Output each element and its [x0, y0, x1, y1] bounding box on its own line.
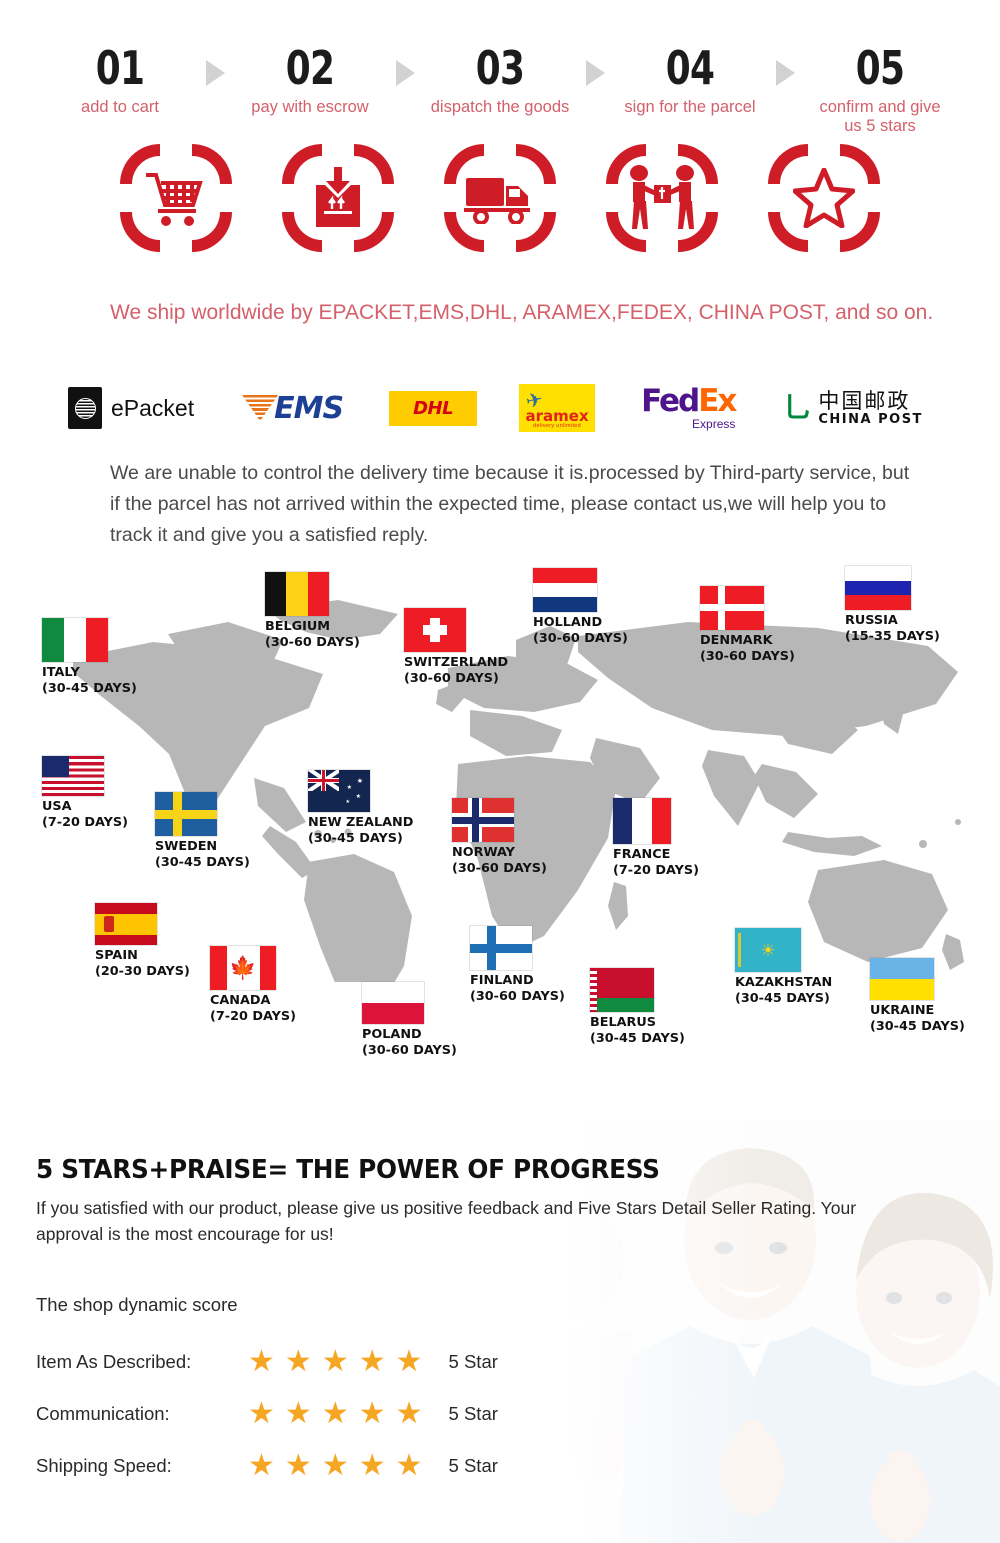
ems-chevron-icon — [242, 395, 278, 421]
map-pin-sweden: SWEDEN (30-45 DAYS) — [155, 792, 250, 871]
fedex-logo: FedEx Express — [641, 386, 735, 431]
flag-usa — [42, 756, 104, 796]
country-days: (7-20 DAYS) — [210, 1009, 296, 1025]
country-name: NORWAY — [452, 845, 547, 861]
country-name: KAZAKHSTAN — [735, 975, 832, 991]
star-icon: ★ — [285, 1451, 312, 1481]
fedex-label: FedEx — [641, 386, 735, 416]
dhl-label: DHL — [413, 398, 453, 419]
step-label: sign for the parcel — [609, 98, 771, 117]
step-icon-cell-4 — [581, 144, 743, 252]
map-pin-finland: FINLAND (30-60 DAYS) — [470, 926, 565, 1005]
country-name: SWITZERLAND — [404, 655, 508, 671]
step-icon-cell-5 — [743, 144, 905, 252]
country-name: NEW ZEALAND — [308, 815, 413, 831]
star-icon: ★ — [322, 1347, 349, 1377]
map-pin-switzerland: SWITZERLAND (30-60 DAYS) — [404, 608, 508, 687]
country-name: POLAND — [362, 1027, 457, 1043]
flag-norway — [452, 798, 514, 842]
country-name: USA — [42, 799, 128, 815]
china-post-emblem-icon: 乚 — [783, 395, 811, 421]
world-shipping-map: ITALY (30-45 DAYS) BELGIUM (30-60 DAYS) … — [0, 558, 1000, 1098]
country-days: (30-60 DAYS) — [470, 989, 565, 1005]
feedback-title: 5 STARS+PRAISE= THE POWER OF PROGRESS — [36, 1155, 660, 1185]
rating-stars: ★ ★ ★ ★ ★ — [248, 1399, 423, 1429]
rating-value: 5 Star — [449, 1403, 498, 1425]
flag-russia — [845, 566, 911, 610]
rating-label: Item As Described: — [36, 1351, 248, 1373]
star-icon: ★ — [396, 1347, 423, 1377]
step-arrow-1 — [201, 42, 229, 86]
country-name: FRANCE — [613, 847, 699, 863]
star-icon — [768, 144, 880, 252]
flag-belarus — [590, 968, 654, 1012]
delivery-truck-icon — [444, 144, 556, 252]
country-days: (20-30 DAYS) — [95, 964, 190, 980]
country-name: BELGIUM — [265, 619, 360, 635]
step-arrow-2 — [391, 42, 419, 86]
epacket-globe-icon — [68, 387, 102, 429]
feedback-section: 5 STARS+PRAISE= THE POWER OF PROGRESS If… — [0, 1120, 1000, 1543]
step-label: confirm and give us 5 stars — [799, 98, 961, 136]
step-icon-cell-3 — [419, 144, 581, 252]
country-name: RUSSIA — [845, 613, 940, 629]
flag-poland — [362, 982, 424, 1024]
flag-ukraine — [870, 958, 934, 1000]
flag-new-zealand: ★ ★ ★ ★ — [308, 770, 370, 812]
step-03: 03 dispatch the goods — [419, 42, 581, 117]
china-post-label-en: CHINA POST — [818, 412, 923, 427]
dhl-logo: DHL — [389, 391, 477, 426]
rating-rows: Item As Described: ★ ★ ★ ★ ★ 5 Star Comm… — [36, 1336, 498, 1492]
worldwide-shipping-text: We ship worldwide by EPACKET,EMS,DHL, AR… — [110, 298, 940, 328]
step-number: 05 — [817, 42, 943, 94]
flag-spain — [95, 903, 157, 945]
country-days: (30-60 DAYS) — [404, 671, 508, 687]
ems-label: EMS — [274, 391, 343, 426]
step-01: 01 add to cart — [39, 42, 201, 117]
star-icon: ★ — [285, 1347, 312, 1377]
rating-label: Shipping Speed: — [36, 1455, 248, 1477]
fedex-sublabel: Express — [692, 417, 735, 431]
step-label: pay with escrow — [229, 98, 391, 117]
rating-value: 5 Star — [449, 1351, 498, 1373]
china-post-label-cn: 中国邮政 — [818, 390, 923, 412]
country-days: (30-45 DAYS) — [155, 855, 250, 871]
map-pin-belgium: BELGIUM (30-60 DAYS) — [265, 572, 360, 651]
step-arrow-4 — [771, 42, 799, 86]
country-days: (30-45 DAYS) — [735, 991, 832, 1007]
star-icon: ★ — [359, 1451, 386, 1481]
feedback-subtitle: If you satisfied with our product, pleas… — [36, 1195, 916, 1247]
flag-sweden — [155, 792, 217, 836]
map-pin-france: FRANCE (7-20 DAYS) — [613, 798, 699, 879]
country-days: (30-45 DAYS) — [590, 1031, 685, 1047]
star-icon: ★ — [359, 1399, 386, 1429]
package-payment-icon — [282, 144, 394, 252]
shipping-infographic: 01 add to cart 02 pay with escrow 03 dis… — [0, 0, 1000, 1543]
flag-belgium — [265, 572, 329, 616]
country-name: BELARUS — [590, 1015, 685, 1031]
flag-france — [613, 798, 671, 844]
country-name: SPAIN — [95, 948, 190, 964]
aramex-tagline: delivery unlimited — [533, 423, 581, 429]
aramex-logo: ✈ aramex delivery unlimited — [519, 384, 595, 432]
step-icon-cell-1 — [95, 144, 257, 252]
country-name: UKRAINE — [870, 1003, 965, 1019]
map-pin-new-zealand: ★ ★ ★ ★ NEW ZEALAND (30-45 DAYS) — [308, 770, 413, 847]
step-number: 03 — [437, 42, 563, 94]
china-post-logo: 乚 中国邮政 CHINA POST — [783, 390, 923, 427]
step-label: dispatch the goods — [419, 98, 581, 117]
step-number: 02 — [247, 42, 373, 94]
rating-row-item-as-described: Item As Described: ★ ★ ★ ★ ★ 5 Star — [36, 1336, 498, 1388]
map-pin-spain: SPAIN (20-30 DAYS) — [95, 903, 190, 980]
country-name: FINLAND — [470, 973, 565, 989]
fedex-label-fed: Fed — [641, 383, 698, 419]
country-days: (7-20 DAYS) — [42, 815, 128, 831]
rating-row-shipping-speed: Shipping Speed: ★ ★ ★ ★ ★ 5 Star — [36, 1440, 498, 1492]
step-05: 05 confirm and give us 5 stars — [799, 42, 961, 136]
rating-row-communication: Communication: ★ ★ ★ ★ ★ 5 Star — [36, 1388, 498, 1440]
country-name: DENMARK — [700, 633, 795, 649]
star-icon: ★ — [396, 1399, 423, 1429]
country-name: SWEDEN — [155, 839, 250, 855]
country-name: ITALY — [42, 665, 137, 681]
rating-stars: ★ ★ ★ ★ ★ — [248, 1451, 423, 1481]
star-icon: ★ — [248, 1399, 275, 1429]
map-pin-holland: HOLLAND (30-60 DAYS) — [533, 568, 628, 647]
map-pin-russia: RUSSIA (15-35 DAYS) — [845, 566, 940, 645]
flag-holland — [533, 568, 597, 612]
epacket-logo: ePacket — [68, 387, 194, 429]
rating-value: 5 Star — [449, 1455, 498, 1477]
step-icon-cell-2 — [257, 144, 419, 252]
step-icons-row — [0, 140, 1000, 255]
star-icon: ★ — [359, 1347, 386, 1377]
country-days: (7-20 DAYS) — [613, 863, 699, 879]
flag-canada: 🍁 — [210, 946, 276, 990]
map-pin-kazakhstan: ☀ KAZAKHSTAN (30-45 DAYS) — [735, 928, 832, 1007]
rating-label: Communication: — [36, 1403, 248, 1425]
shop-dynamic-score-heading: The shop dynamic score — [36, 1294, 238, 1316]
country-days: (30-45 DAYS) — [42, 681, 137, 697]
star-icon: ★ — [285, 1399, 312, 1429]
epacket-label: ePacket — [111, 395, 194, 422]
country-name: CANADA — [210, 993, 296, 1009]
star-icon: ★ — [248, 1451, 275, 1481]
country-days: (30-45 DAYS) — [870, 1019, 965, 1035]
step-02: 02 pay with escrow — [229, 42, 391, 117]
delivery-time-disclaimer: We are unable to control the delivery ti… — [110, 458, 910, 551]
map-pin-usa: USA (7-20 DAYS) — [42, 756, 128, 831]
order-steps-row: 01 add to cart 02 pay with escrow 03 dis… — [0, 42, 1000, 137]
map-pin-belarus: BELARUS (30-45 DAYS) — [590, 968, 685, 1047]
flag-italy — [42, 618, 108, 662]
map-pin-ukraine: UKRAINE (30-45 DAYS) — [870, 958, 965, 1035]
rating-stars: ★ ★ ★ ★ ★ — [248, 1347, 423, 1377]
country-days: (30-60 DAYS) — [533, 631, 628, 647]
flag-finland — [470, 926, 532, 970]
parcel-handover-icon — [606, 144, 718, 252]
shopping-cart-icon — [120, 144, 232, 252]
step-arrow-3 — [581, 42, 609, 86]
star-icon: ★ — [322, 1451, 349, 1481]
flag-denmark — [700, 586, 764, 630]
star-icon: ★ — [396, 1451, 423, 1481]
map-pin-poland: POLAND (30-60 DAYS) — [362, 982, 457, 1059]
star-icon: ★ — [322, 1399, 349, 1429]
flag-kazakhstan: ☀ — [735, 928, 801, 972]
country-days: (30-60 DAYS) — [265, 635, 360, 651]
carrier-logos-row: ePacket EMS DHL ✈ aramex delivery unlimi… — [68, 382, 948, 434]
step-label: add to cart — [39, 98, 201, 117]
map-pin-denmark: DENMARK (30-60 DAYS) — [700, 586, 795, 665]
map-pin-norway: NORWAY (30-60 DAYS) — [452, 798, 547, 877]
fedex-label-ex: Ex — [698, 383, 735, 419]
flag-switzerland — [404, 608, 466, 652]
country-name: HOLLAND — [533, 615, 628, 631]
country-days: (30-60 DAYS) — [362, 1043, 457, 1059]
star-icon: ★ — [248, 1347, 275, 1377]
country-days: (30-45 DAYS) — [308, 831, 413, 847]
ems-logo: EMS — [242, 391, 343, 426]
step-04: 04 sign for the parcel — [609, 42, 771, 117]
map-pin-canada: 🍁 CANADA (7-20 DAYS) — [210, 946, 296, 1025]
step-number: 01 — [57, 42, 183, 94]
country-days: (30-60 DAYS) — [452, 861, 547, 877]
map-pin-italy: ITALY (30-45 DAYS) — [42, 618, 137, 697]
step-number: 04 — [627, 42, 753, 94]
country-days: (15-35 DAYS) — [845, 629, 940, 645]
country-days: (30-60 DAYS) — [700, 649, 795, 665]
